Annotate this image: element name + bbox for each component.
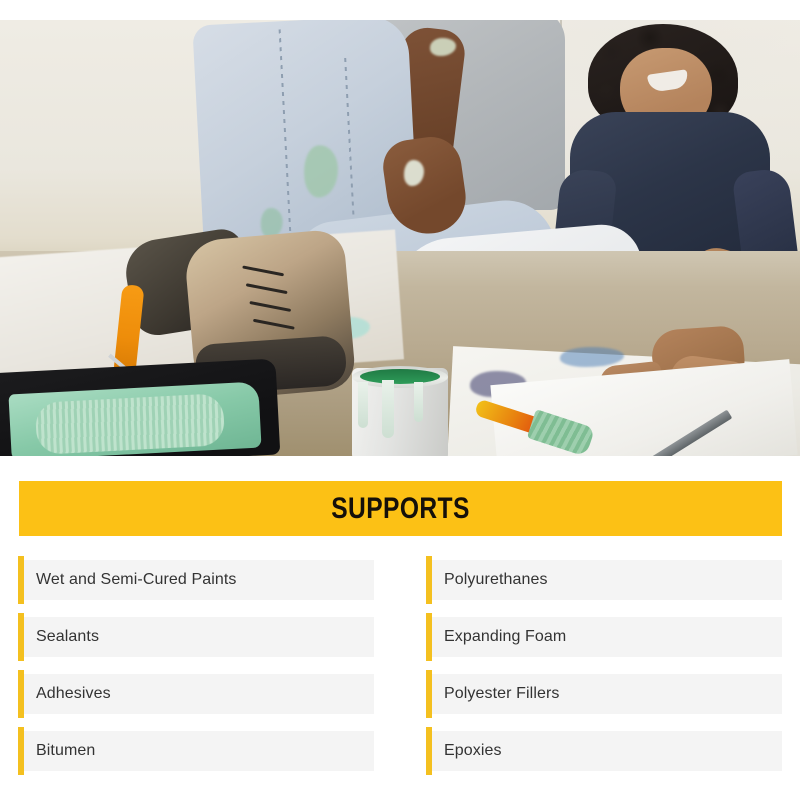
boot-lace	[249, 301, 291, 312]
support-item-polyester-fillers[interactable]: Polyester Fillers	[426, 674, 782, 714]
paint-drip	[358, 382, 368, 428]
support-item-label: Expanding Foam	[426, 628, 566, 646]
support-item-sealants[interactable]: Sealants	[18, 617, 374, 657]
green-paint-surface	[360, 369, 440, 384]
support-item-label: Adhesives	[18, 685, 111, 703]
hero-photo	[0, 20, 800, 456]
support-item-bitumen[interactable]: Bitumen	[18, 731, 374, 771]
accent-bar-icon	[426, 556, 432, 604]
accent-bar-icon	[18, 727, 24, 775]
boot-lace	[246, 283, 288, 294]
support-item-label: Bitumen	[18, 742, 95, 760]
top-white-strip	[0, 0, 800, 20]
supports-banner-title: SUPPORTS	[331, 492, 470, 526]
support-item-epoxies[interactable]: Epoxies	[426, 731, 782, 771]
accent-bar-icon	[18, 613, 24, 661]
supports-left-column: Wet and Semi-Cured Paints Sealants Adhes…	[18, 560, 374, 800]
supports-banner: SUPPORTS	[19, 481, 782, 536]
paint-drip	[414, 382, 423, 422]
accent-bar-icon	[426, 613, 432, 661]
accent-bar-icon	[18, 556, 24, 604]
support-item-label: Epoxies	[426, 742, 502, 760]
boot-lace	[242, 265, 284, 276]
support-item-label: Sealants	[18, 628, 99, 646]
paint-drip	[382, 380, 394, 438]
support-item-label: Wet and Semi-Cured Paints	[18, 571, 237, 589]
jeans-seam	[344, 58, 355, 238]
support-item-adhesives[interactable]: Adhesives	[18, 674, 374, 714]
accent-bar-icon	[426, 670, 432, 718]
support-item-label: Polyester Fillers	[426, 685, 560, 703]
boot-lace	[253, 319, 295, 330]
support-item-expanding-foam[interactable]: Expanding Foam	[426, 617, 782, 657]
paint-splatter	[303, 144, 340, 198]
hero-photo-background	[0, 20, 800, 456]
accent-bar-icon	[18, 670, 24, 718]
support-item-polyurethanes[interactable]: Polyurethanes	[426, 560, 782, 600]
paint-roller-sleeve	[35, 393, 225, 455]
supports-list: Wet and Semi-Cured Paints Sealants Adhes…	[0, 560, 800, 800]
supports-right-column: Polyurethanes Expanding Foam Polyester F…	[426, 560, 782, 800]
product-supports-page: SUPPORTS Wet and Semi-Cured Paints Seala…	[0, 0, 800, 800]
support-item-label: Polyurethanes	[426, 571, 548, 589]
accent-bar-icon	[426, 727, 432, 775]
support-item-wet-and-semi-cured-paints[interactable]: Wet and Semi-Cured Paints	[18, 560, 374, 600]
